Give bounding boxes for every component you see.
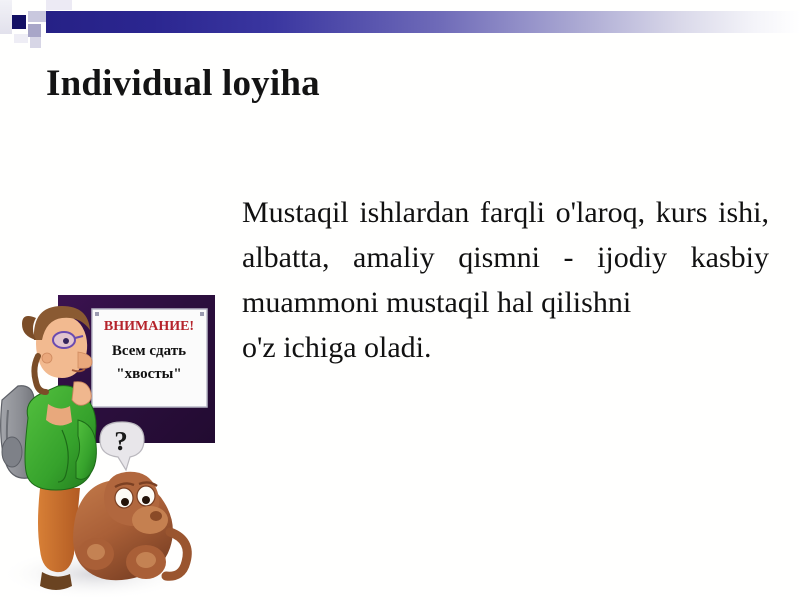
decoration-square-light-bottom	[14, 34, 28, 43]
creature-pupil-right	[142, 496, 150, 504]
poster-pin-top-right	[200, 312, 204, 316]
student-ponytail	[22, 316, 36, 340]
header-decoration	[0, 0, 800, 60]
decoration-square-mid-bottom	[30, 37, 41, 48]
creature-paw-pad-left	[87, 544, 105, 560]
notice-line-tails: "хвосты"	[116, 366, 181, 382]
slide-body-text: Mustaqil ishlardan farqli o'laroq, kurs …	[242, 190, 769, 370]
body-paragraph-last-line: o'z ichiga oladi.	[242, 325, 769, 370]
backpack-pocket	[2, 437, 22, 467]
header-gradient-bar	[46, 11, 800, 33]
student-eye	[63, 338, 69, 344]
creature-paw-pad-right	[136, 552, 156, 568]
thought-bubble-question-mark: ?	[114, 426, 128, 456]
decoration-square-light-top	[46, 0, 72, 10]
poster-pin-top-left	[95, 312, 99, 316]
presentation-slide: Individual loyiha Mustaqil ishlardan far…	[0, 0, 800, 600]
thought-bubble: ?	[100, 422, 144, 470]
decoration-square-mid-top	[28, 11, 46, 22]
creature-pupil-left	[121, 498, 129, 506]
creature-snout	[132, 506, 168, 534]
notice-line-submit: Всем сдать	[112, 343, 186, 359]
body-paragraph: Mustaqil ishlardan farqli o'laroq, kurs …	[242, 196, 769, 319]
decoration-square-light-left	[0, 0, 12, 34]
student-ear	[42, 353, 52, 363]
notice-line-attention: ВНИМАНИЕ!	[104, 319, 194, 334]
slide-title: Individual loyiha	[46, 62, 320, 106]
creature-nostril	[150, 511, 162, 521]
decoration-square-dark	[12, 15, 26, 29]
illustration-student-notice-board: ВНИМАНИЕ! Всем сдать "хвосты"	[0, 282, 222, 600]
decoration-square-mid-middle	[28, 24, 41, 37]
